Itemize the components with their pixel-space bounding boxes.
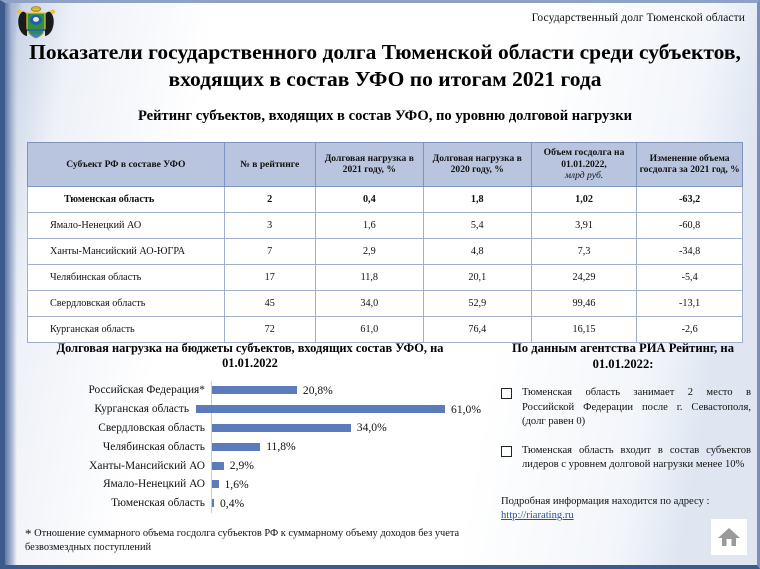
- cell-rank: 3: [224, 212, 315, 238]
- cell-volume: 3,91: [531, 212, 637, 238]
- cell-load-2020: 76,4: [423, 316, 531, 342]
- chart-bar-wrap: 11,8%: [211, 440, 481, 453]
- cell-load-2020: 20,1: [423, 264, 531, 290]
- table-row: Ямало-Ненецкий АО 3 1,6 5,4 3,91 -60,8: [28, 212, 743, 238]
- chart-bar-wrap: 61,0%: [195, 403, 481, 416]
- chart-category-label: Тюменская область: [19, 497, 211, 509]
- cell-load-2021: 1,6: [315, 212, 423, 238]
- chart-category-label: Свердловская область: [19, 422, 211, 434]
- cell-load-2021: 61,0: [315, 316, 423, 342]
- home-icon: [717, 526, 741, 548]
- bullet-text: Тюменская область занимает 2 место в Рос…: [522, 386, 751, 430]
- chart-bar-wrap: 34,0%: [211, 421, 481, 434]
- panel-title: По данным агентства РИА Рейтинг, на 01.0…: [495, 341, 751, 372]
- list-item: Тюменская область занимает 2 место в Рос…: [495, 386, 751, 430]
- bullet-text: Тюменская область входит в состав субъек…: [522, 444, 751, 473]
- cell-change: -2,6: [637, 316, 743, 342]
- chart-bar: [212, 462, 224, 470]
- source-note-prefix: Подробная информация находится по адресу…: [501, 496, 709, 507]
- chart-bar-row: Тюменская область 0,4%: [19, 494, 481, 513]
- table-row: Ханты-Мансийский АО-ЮГРА 7 2,9 4,8 7,3 -…: [28, 238, 743, 264]
- cell-load-2021: 0,4: [315, 186, 423, 212]
- cell-load-2020: 5,4: [423, 212, 531, 238]
- cell-rank: 2: [224, 186, 315, 212]
- table-row: Свердловская область 45 34,0 52,9 99,46 …: [28, 290, 743, 316]
- chart-category-label: Российская Федерация*: [19, 384, 211, 396]
- cell-load-2020: 1,8: [423, 186, 531, 212]
- header-subtitle: Государственный долг Тюменской области: [532, 12, 745, 24]
- ranking-table: Субъект РФ в составе УФО № в рейтинге До…: [27, 142, 743, 343]
- chart-value-label: 11,8%: [266, 440, 296, 453]
- chart-bar-row: Челябинская область 11,8%: [19, 437, 481, 456]
- bullet-square-icon: [501, 446, 512, 457]
- table-row: Челябинская область 17 11,8 20,1 24,29 -…: [28, 264, 743, 290]
- cell-rank: 7: [224, 238, 315, 264]
- debt-load-chart: Долговая нагрузка на бюджеты субъектов, …: [19, 341, 481, 526]
- chart-value-label: 34,0%: [357, 421, 387, 434]
- presentation-slide: Государственный долг Тюменской области П…: [0, 0, 760, 569]
- col-header-subject: Субъект РФ в составе УФО: [28, 143, 225, 187]
- chart-bar: [212, 424, 351, 432]
- chart-bar-wrap: 2,9%: [211, 459, 481, 472]
- col-header-load-2021: Долговая нагрузка в 2021 году, %: [315, 143, 423, 187]
- cell-volume: 7,3: [531, 238, 637, 264]
- tyumen-coat-of-arms-icon: [13, 5, 59, 39]
- chart-bar: [196, 405, 445, 413]
- cell-volume: 24,29: [531, 264, 637, 290]
- chart-bar-wrap: 1,6%: [211, 478, 481, 491]
- chart-bar-row: Ямало-Ненецкий АО 1,6%: [19, 475, 481, 494]
- cell-subject: Ханты-Мансийский АО-ЮГРА: [28, 238, 225, 264]
- cell-subject: Ямало-Ненецкий АО: [28, 212, 225, 238]
- chart-bar-wrap: 20,8%: [211, 384, 481, 397]
- cell-change: -34,8: [637, 238, 743, 264]
- col-header-change: Изменение объема госдолга за 2021 год, %: [637, 143, 743, 187]
- chart-category-label: Ямало-Ненецкий АО: [19, 478, 211, 490]
- cell-rank: 72: [224, 316, 315, 342]
- page-title: Показатели государственного долга Тюменс…: [27, 39, 743, 93]
- table-row: Тюменская область 2 0,4 1,8 1,02 -63,2: [28, 186, 743, 212]
- chart-value-label: 1,6%: [225, 478, 249, 491]
- chart-bar-wrap: 0,4%: [211, 497, 481, 510]
- ria-rating-panel: По данным агентства РИА Рейтинг, на 01.0…: [495, 341, 751, 524]
- chart-value-label: 0,4%: [220, 497, 244, 510]
- bullet-square-icon: [501, 388, 512, 399]
- cell-rank: 17: [224, 264, 315, 290]
- page-subtitle: Рейтинг субъектов, входящих в состав УФО…: [27, 107, 743, 125]
- cell-change: -63,2: [637, 186, 743, 212]
- chart-category-label: Курганская область: [19, 403, 195, 415]
- cell-change: -13,1: [637, 290, 743, 316]
- chart-bar-row: Российская Федерация* 20,8%: [19, 381, 481, 400]
- table-header-row: Субъект РФ в составе УФО № в рейтинге До…: [28, 143, 743, 187]
- cell-load-2020: 4,8: [423, 238, 531, 264]
- chart-bar: [212, 499, 214, 507]
- home-button[interactable]: [710, 518, 748, 556]
- cell-subject: Челябинская область: [28, 264, 225, 290]
- chart-bar: [212, 480, 219, 488]
- cell-volume: 1,02: [531, 186, 637, 212]
- chart-bar: [212, 443, 260, 451]
- chart-value-label: 2,9%: [230, 459, 254, 472]
- col-header-volume: Объем госдолга на 01.01.2022, млрд руб.: [531, 143, 637, 187]
- footnote-text: Отношение суммарного объема госдолга суб…: [25, 528, 459, 553]
- table-row: Курганская область 72 61,0 76,4 16,15 -2…: [28, 316, 743, 342]
- cell-volume: 99,46: [531, 290, 637, 316]
- cell-load-2020: 52,9: [423, 290, 531, 316]
- chart-bar-row: Свердловская область 34,0%: [19, 419, 481, 438]
- col-header-rank: № в рейтинге: [224, 143, 315, 187]
- chart-category-label: Челябинская область: [19, 441, 211, 453]
- col-header-volume-text: Объем госдолга на 01.01.2022,: [544, 147, 625, 170]
- chart-title: Долговая нагрузка на бюджеты субъектов, …: [19, 341, 481, 371]
- chart-bar-row: Курганская область 61,0%: [19, 400, 481, 419]
- cell-subject: Курганская область: [28, 316, 225, 342]
- cell-subject: Свердловская область: [28, 290, 225, 316]
- cell-subject: Тюменская область: [28, 186, 225, 212]
- footnote-star: *: [25, 526, 32, 541]
- cell-rank: 45: [224, 290, 315, 316]
- chart-category-label: Ханты-Мансийский АО: [19, 460, 211, 472]
- chart-value-label: 20,8%: [303, 384, 333, 397]
- cell-change: -5,4: [637, 264, 743, 290]
- slide-header: Государственный долг Тюменской области: [5, 3, 757, 36]
- cell-load-2021: 34,0: [315, 290, 423, 316]
- riarating-link[interactable]: http://riarating.ru: [501, 510, 574, 521]
- table-body: Тюменская область 2 0,4 1,8 1,02 -63,2 Я…: [28, 186, 743, 342]
- chart-bar-row: Ханты-Мансийский АО 2,9%: [19, 456, 481, 475]
- cell-load-2021: 2,9: [315, 238, 423, 264]
- chart-value-label: 61,0%: [451, 403, 481, 416]
- chart-plot-area: Российская Федерация* 20,8% Курганская о…: [19, 381, 481, 513]
- cell-change: -60,8: [637, 212, 743, 238]
- col-header-volume-unit: млрд руб.: [565, 170, 603, 181]
- cell-volume: 16,15: [531, 316, 637, 342]
- col-header-load-2020: Долговая нагрузка в 2020 году, %: [423, 143, 531, 187]
- chart-footnote: * Отношение суммарного объема госдолга с…: [25, 527, 465, 555]
- chart-bar: [212, 386, 297, 394]
- ranking-table-wrapper: Субъект РФ в составе УФО № в рейтинге До…: [27, 142, 743, 343]
- list-item: Тюменская область входит в состав субъек…: [495, 444, 751, 473]
- cell-load-2021: 11,8: [315, 264, 423, 290]
